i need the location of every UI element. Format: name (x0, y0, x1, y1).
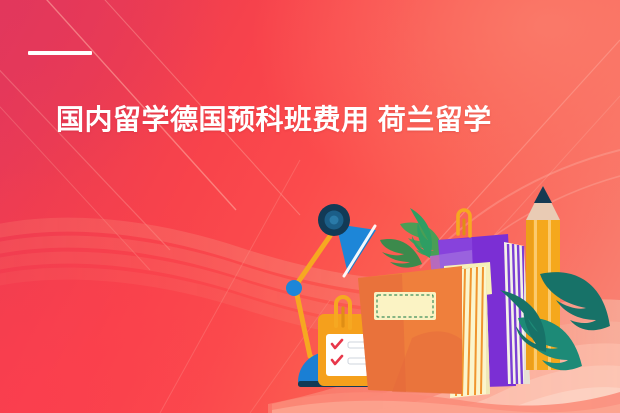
page-title: 国内留学德国预科班费用 荷兰留学 (56, 103, 492, 137)
orange-notebook (358, 266, 462, 394)
accent-rule (28, 51, 92, 55)
notebook-label (374, 292, 436, 320)
study-supplies-illustration (272, 178, 620, 413)
pencil-tip (534, 186, 552, 203)
foreground-wave (272, 392, 620, 413)
lamp-joint (286, 280, 302, 296)
paperclip-icon (458, 210, 470, 236)
banner-image: 国内留学德国预科班费用 荷兰留学 (0, 0, 620, 413)
